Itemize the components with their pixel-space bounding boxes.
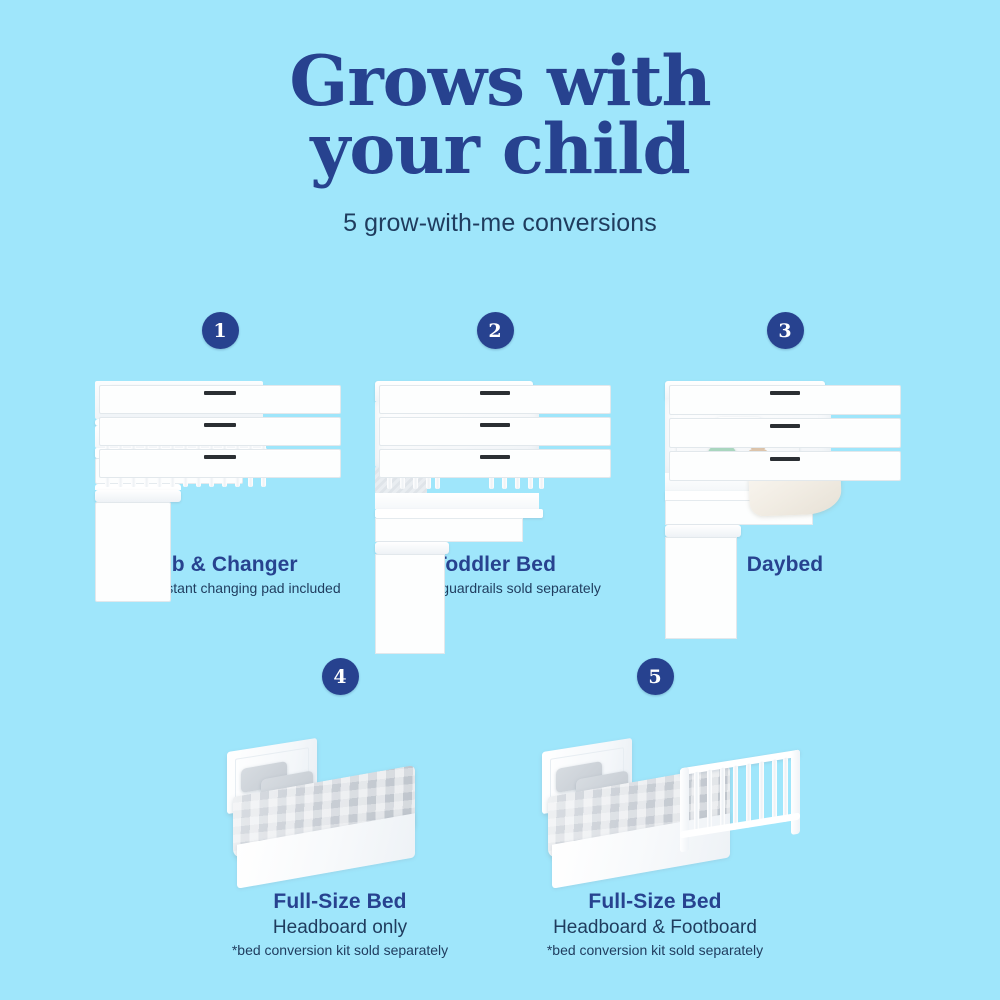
page-subtitle: 5 grow-with-me conversions xyxy=(0,209,1000,238)
conversions-row-bottom: 4 Full-Size Bed Headboard only *bed conv… xyxy=(0,658,1000,958)
conversion-note-5: *bed conversion kit sold separately xyxy=(515,942,795,958)
toddler-storage-drawer xyxy=(375,518,523,542)
conversion-item-daybed: 3 xyxy=(660,312,910,622)
drawer-handle-icon xyxy=(480,455,510,459)
changer-pad-surface xyxy=(665,525,741,537)
conversion-subtitle-5: Headboard & Footboard xyxy=(515,917,795,939)
toddler-bed-illustration xyxy=(375,381,615,521)
changer-drawer-2 xyxy=(669,418,901,448)
conversion-item-full-size-bed-headboard-footboard: 5 Full-Size Bed Headboard & Footboard *b… xyxy=(515,658,795,958)
changer-drawer-unit xyxy=(375,554,445,654)
changer-drawer-3 xyxy=(669,451,901,481)
drawer-handle-icon xyxy=(204,391,236,395)
drawer-handle-icon xyxy=(480,391,510,395)
badge-3: 3 xyxy=(767,312,804,349)
conversion-subtitle-4: Headboard only xyxy=(200,917,480,939)
drawer-handle-icon xyxy=(204,423,236,427)
conversion-title-5: Full-Size Bed xyxy=(515,890,795,914)
caption-5: Full-Size Bed Headboard & Footboard *bed… xyxy=(515,890,795,958)
drawer-handle-icon xyxy=(480,423,510,427)
page-title: Grows with your child xyxy=(0,48,1000,183)
changer-drawer-3 xyxy=(379,449,611,478)
header: Grows with your child 5 grow-with-me con… xyxy=(0,0,1000,238)
drawer-handle-icon xyxy=(770,424,800,428)
conversion-item-full-size-bed-headboard: 4 Full-Size Bed Headboard only *bed conv… xyxy=(200,658,480,958)
page-title-line-2: your child xyxy=(0,116,1000,184)
drawer-handle-icon xyxy=(204,455,236,459)
changer-drawer-unit xyxy=(95,502,171,602)
changer-drawer-2 xyxy=(379,417,611,446)
caption-4: Full-Size Bed Headboard only *bed conver… xyxy=(200,890,480,958)
conversion-note-4: *bed conversion kit sold separately xyxy=(200,942,480,958)
changer-drawer-2 xyxy=(99,417,341,446)
page-title-line-1: Grows with xyxy=(0,48,1000,116)
changer-pad-surface xyxy=(95,490,181,502)
bed-footboard xyxy=(680,749,800,852)
badge-2: 2 xyxy=(477,312,514,349)
conversion-title-4: Full-Size Bed xyxy=(200,890,480,914)
full-size-bed-headboard-only-illustration xyxy=(205,719,475,864)
badge-4: 4 xyxy=(322,658,359,695)
drawer-handle-icon xyxy=(770,391,800,395)
conversions-row-top: 1 xyxy=(0,312,1000,622)
toddler-base-rail xyxy=(375,509,543,518)
full-size-bed-headboard-and-footboard-illustration xyxy=(520,719,790,864)
badge-5: 5 xyxy=(637,658,674,695)
badge-1: 1 xyxy=(202,312,239,349)
drawer-handle-icon xyxy=(770,457,800,461)
changer-drawer-1 xyxy=(99,385,341,414)
changer-drawer-1 xyxy=(669,385,901,415)
conversion-item-crib-and-changer: 1 xyxy=(75,312,365,622)
changer-pad-surface xyxy=(375,542,449,554)
changer-drawer-1 xyxy=(379,385,611,414)
conversion-item-toddler-bed: 2 xyxy=(360,312,630,622)
changer-drawer-3 xyxy=(99,449,341,478)
daybed-illustration xyxy=(665,381,905,521)
crib-and-changer-illustration xyxy=(95,381,345,521)
toddler-mattress xyxy=(375,493,539,509)
changer-drawer-unit xyxy=(665,537,737,639)
